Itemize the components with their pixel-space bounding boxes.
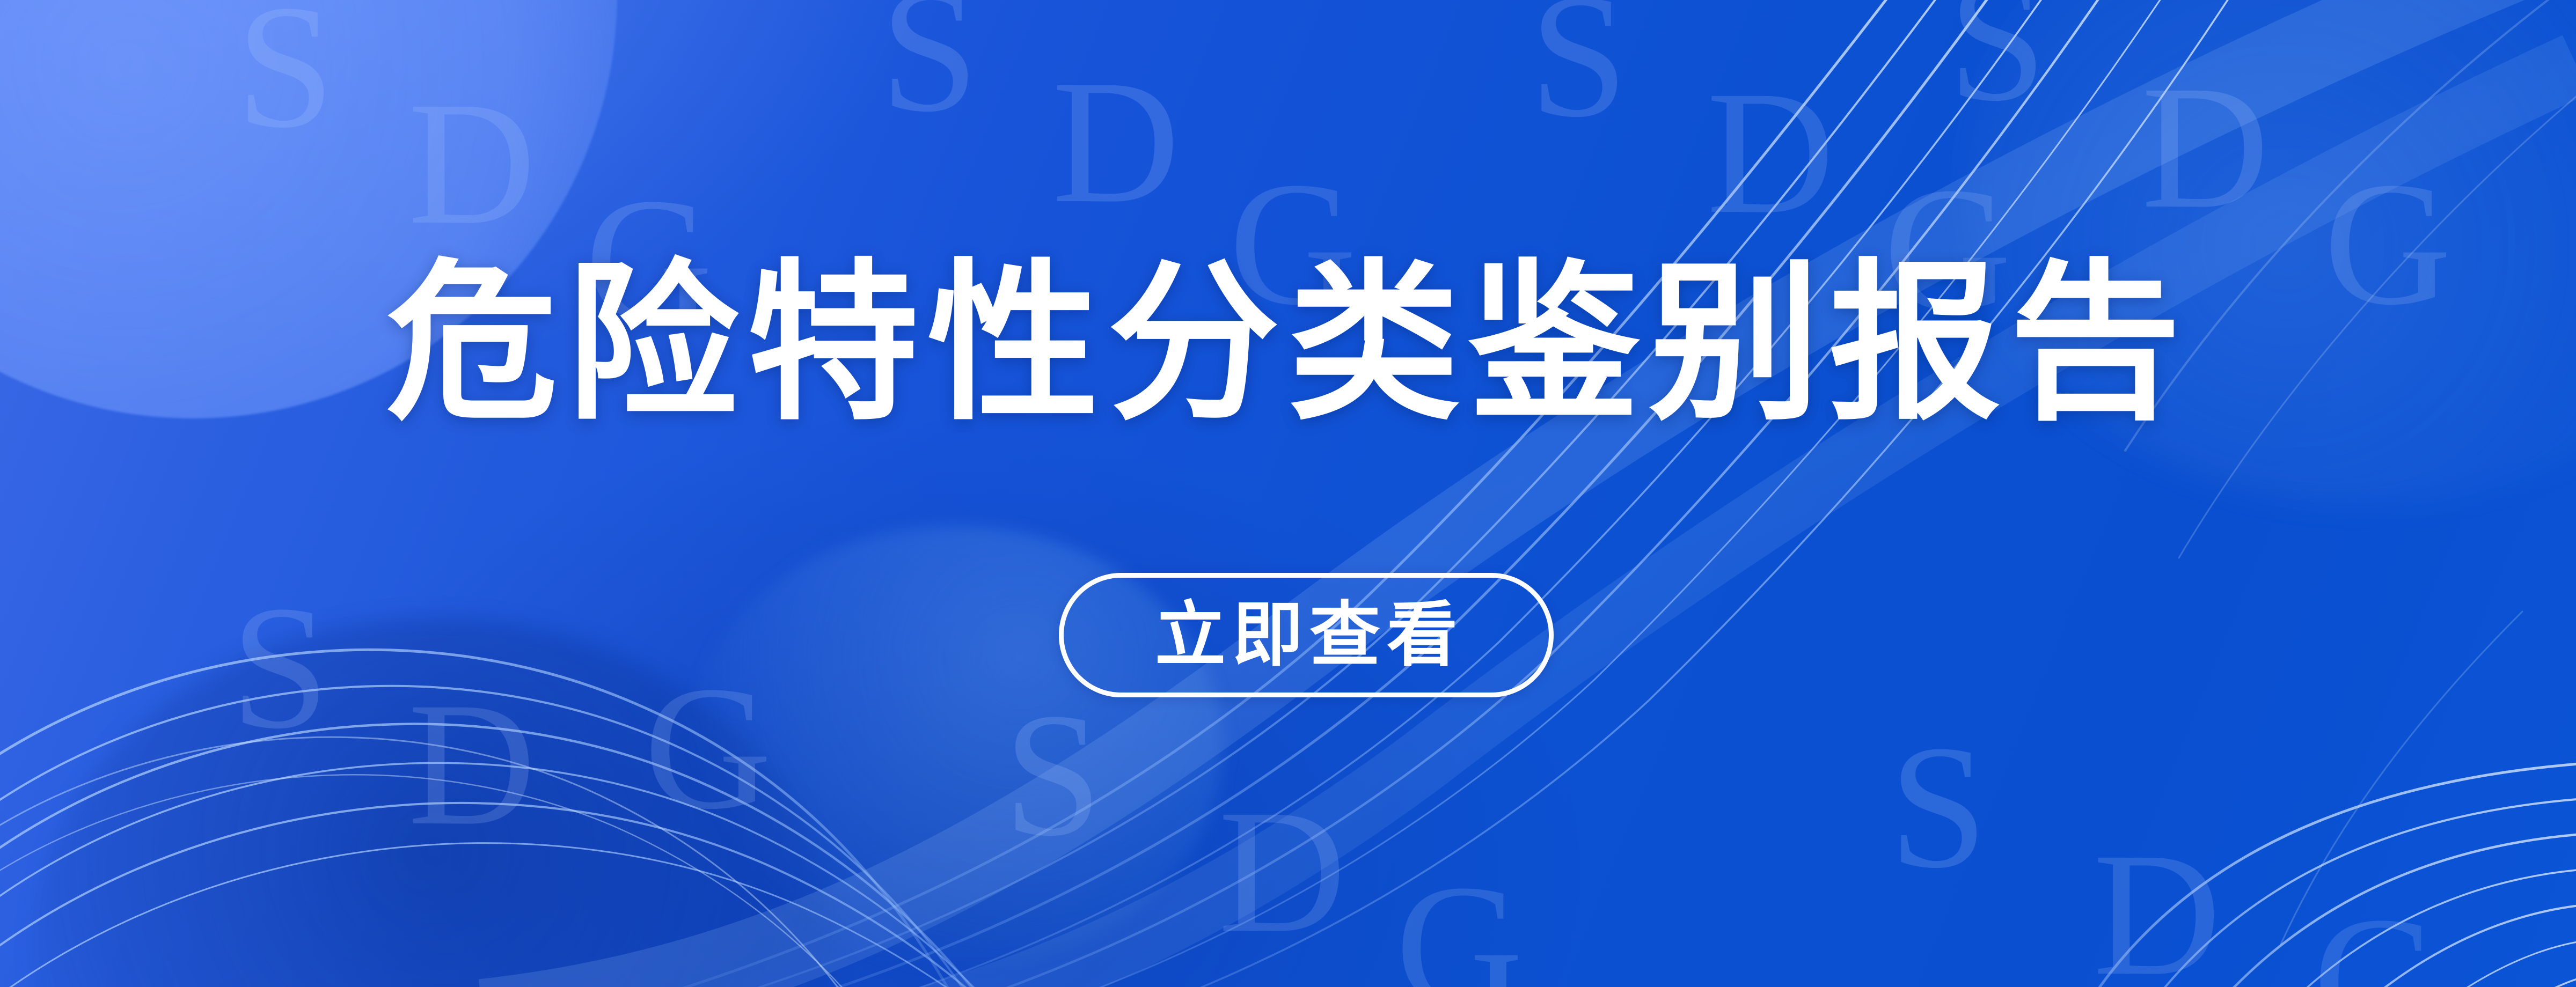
watermark-letter-d: D [1052,54,1180,231]
promo-banner: SDGSDGSDGSDGSDGSDGSDG 危险特性分类鉴别报告 立即查看 [0,0,2576,987]
watermark-letter-s: S [1889,719,1988,896]
watermark-letter-d: D [1707,64,1834,241]
view-now-button-label: 立即查看 [1148,600,1464,671]
watermark-letter-d: D [1218,783,1346,960]
watermark-letter-s: S [880,0,979,139]
watermark-letter-d: D [2093,826,2221,987]
page-title: 危险特性分类鉴别报告 [0,251,2576,437]
watermark-letter-g: G [1395,858,1523,987]
view-now-button[interactable]: 立即查看 [1059,573,1554,697]
watermark-letter-g: G [2313,890,2441,987]
watermark-letter-s: S [1529,0,1628,145]
